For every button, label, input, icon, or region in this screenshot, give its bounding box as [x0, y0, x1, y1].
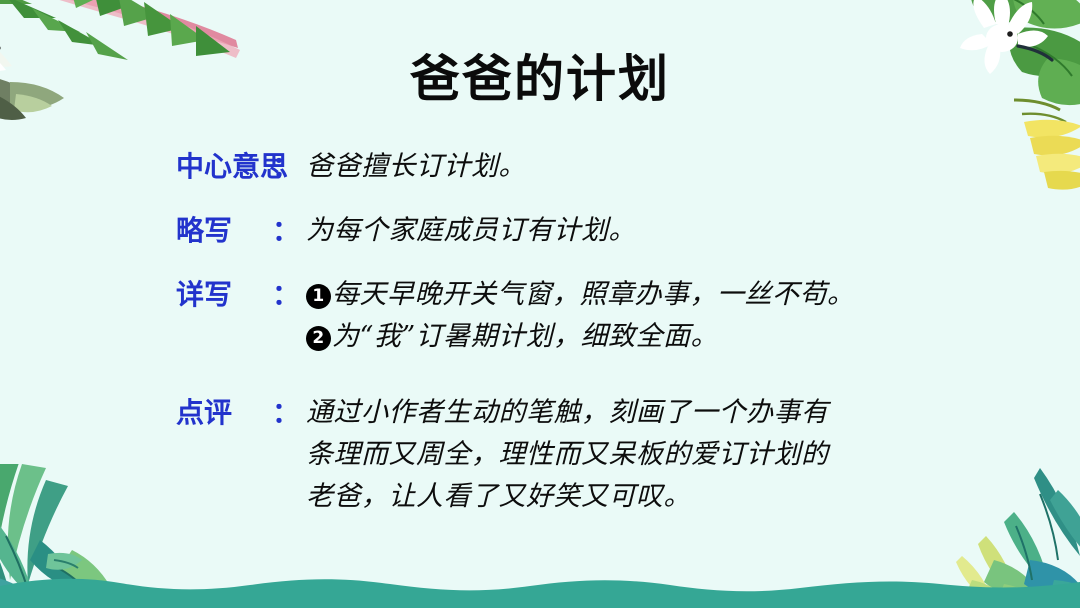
content-block: 中心意思 ： 爸爸擅长订计划。 略写 ： 为每个家庭成员订有计划。 详写 ： 1… [176, 146, 1006, 518]
label-detail: 详写 [176, 274, 272, 316]
bottom-wave-band [0, 574, 1080, 608]
line: 条理而又周全，理性而又呆板的爱订计划的 [306, 434, 1006, 476]
label-comment: 点评 [176, 392, 272, 434]
colon-detail: ： [272, 274, 306, 316]
line: 老爸，让人看了又好笑又可叹。 [306, 476, 1006, 518]
text-detail: 1每天早晚开关气窗，照章办事，一丝不苟。 2为“我”订暑期计划，细致全面。 [306, 274, 1006, 358]
line: 为每个家庭成员订有计划。 [306, 210, 1006, 252]
text-brief: 为每个家庭成员订有计划。 [306, 210, 1006, 252]
detail-item-2-text: 为“我”订暑期计划，细致全面。 [332, 321, 718, 352]
list-marker-2: 2 [306, 326, 331, 351]
list-marker-1: 1 [306, 284, 331, 309]
text-center-idea: 爸爸擅长订计划。 [306, 146, 1006, 188]
colon-brief: ： [272, 210, 306, 252]
slide-canvas: 爸爸的计划 中心意思 ： 爸爸擅长订计划。 略写 ： 为每个家庭成员订有计划。 … [0, 0, 1080, 608]
label-brief: 略写 [176, 210, 272, 252]
row-brief: 略写 ： 为每个家庭成员订有计划。 [176, 210, 1006, 252]
colon-center-idea: ： [272, 146, 306, 188]
detail-item-1: 1每天早晚开关气窗，照章办事，一丝不苟。 [306, 274, 1006, 316]
detail-item-2: 2为“我”订暑期计划，细致全面。 [306, 316, 1006, 358]
row-comment: 点评 ： 通过小作者生动的笔触，刻画了一个办事有 条理而又周全，理性而又呆板的爱… [176, 392, 1006, 518]
line: 通过小作者生动的笔触，刻画了一个办事有 [306, 392, 1006, 434]
line: 爸爸擅长订计划。 [306, 146, 1006, 188]
row-detail: 详写 ： 1每天早晚开关气窗，照章办事，一丝不苟。 2为“我”订暑期计划，细致全… [176, 274, 1006, 358]
detail-item-1-text: 每天早晚开关气窗，照章办事，一丝不苟。 [332, 279, 855, 310]
colon-comment: ： [272, 392, 306, 434]
row-center-idea: 中心意思 ： 爸爸擅长订计划。 [176, 146, 1006, 188]
text-comment: 通过小作者生动的笔触，刻画了一个办事有 条理而又周全，理性而又呆板的爱订计划的 … [306, 392, 1006, 518]
page-title: 爸爸的计划 [0, 54, 1080, 104]
label-center-idea: 中心意思 [176, 146, 272, 188]
